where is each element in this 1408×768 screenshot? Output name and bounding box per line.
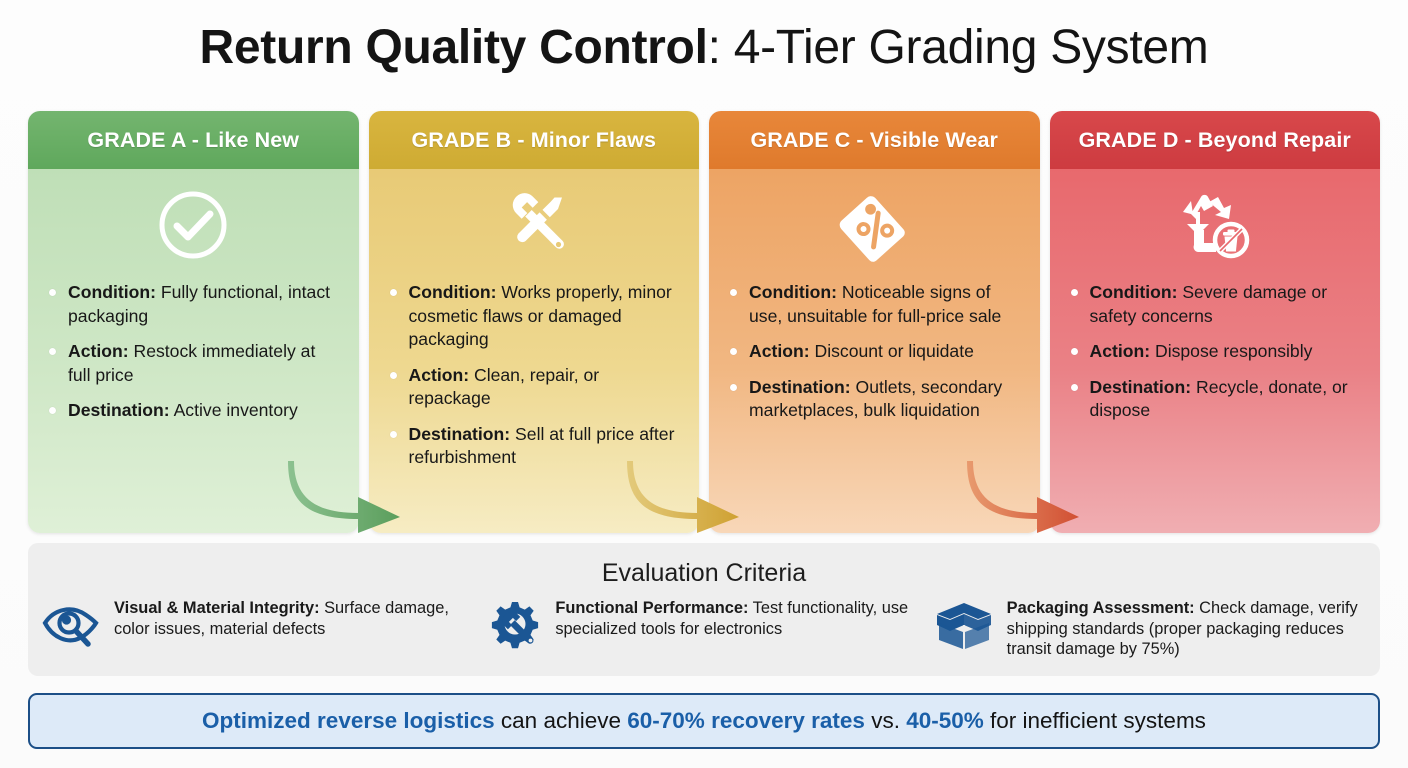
bullet-item: Action: Clean, repair, or repackage <box>387 364 684 411</box>
grade-d-bullets: Condition: Severe damage or safety conce… <box>1050 281 1381 423</box>
bullet-label: Action: <box>68 341 129 361</box>
banner-highlight-2: 60-70% recovery rates <box>627 708 865 733</box>
criteria-item-label: Functional Performance: <box>555 599 748 617</box>
bullet-dot-icon <box>730 384 737 391</box>
bullet-label: Destination: <box>409 424 511 444</box>
bullet-dot-icon <box>390 289 397 296</box>
open-box-icon <box>933 598 995 651</box>
criteria-item-text: Visual & Material Integrity: Surface dam… <box>114 598 475 639</box>
bullet-label: Action: <box>409 365 470 385</box>
banner-highlight-1: Optimized reverse logistics <box>202 708 495 733</box>
page-title: Return Quality Control: 4-Tier Grading S… <box>0 14 1408 82</box>
bullet-dot-icon <box>49 289 56 296</box>
bullet-text: Discount or liquidate <box>810 341 974 361</box>
grade-c-header: GRADE C - Visible Wear <box>709 111 1040 169</box>
page-title-bold: Return Quality Control <box>200 21 708 74</box>
bullet-label: Condition: <box>68 282 156 302</box>
criteria-title: Evaluation Criteria <box>28 543 1380 587</box>
bullet-item: Destination: Active inventory <box>46 399 343 423</box>
grade-b-body: Condition: Works properly, minor cosmeti… <box>369 169 700 533</box>
summary-banner-text: Optimized reverse logistics can achieve … <box>202 708 1206 734</box>
bullet-text: Dispose responsibly <box>1150 341 1312 361</box>
eye-magnifier-icon <box>42 598 102 649</box>
criteria-item-text: Functional Performance: Test functionali… <box>555 598 920 639</box>
bullet-label: Destination: <box>749 377 851 397</box>
bullet-item: Action: Dispose responsibly <box>1068 340 1365 364</box>
banner-plain-3: for inefficient systems <box>984 708 1206 733</box>
bullet-dot-icon <box>390 372 397 379</box>
criteria-items: Visual & Material Integrity: Surface dam… <box>28 587 1380 660</box>
grade-column-c[interactable]: GRADE C - Visible Wear <box>709 111 1040 533</box>
grade-a-body: Condition: Fully functional, intact pack… <box>28 169 359 533</box>
tools-wrench-screwdriver-icon <box>369 169 700 281</box>
evaluation-criteria-panel: Evaluation Criteria Visual & Material In… <box>28 543 1380 676</box>
bullet-text: Active inventory <box>170 400 298 420</box>
banner-plain-1: can achieve <box>495 708 628 733</box>
bullet-dot-icon <box>49 348 56 355</box>
bullet-item: Condition: Severe damage or safety conce… <box>1068 281 1365 328</box>
bullet-item: Action: Restock immediately at full pric… <box>46 340 343 387</box>
bullet-dot-icon <box>49 407 56 414</box>
gear-wrench-icon <box>487 598 543 653</box>
bullet-item: Condition: Noticeable signs of use, unsu… <box>727 281 1024 328</box>
bullet-item: Destination: Recycle, donate, or dispose <box>1068 376 1365 423</box>
bullet-dot-icon <box>730 289 737 296</box>
bullet-dot-icon <box>390 431 397 438</box>
grade-c-body: Condition: Noticeable signs of use, unsu… <box>709 169 1040 533</box>
grade-column-a[interactable]: GRADE A - Like New Condition: Fully func… <box>28 111 359 533</box>
grade-d-body: Condition: Severe damage or safety conce… <box>1050 169 1381 533</box>
bullet-dot-icon <box>1071 384 1078 391</box>
grade-column-b[interactable]: GRADE B - Minor Flaws <box>369 111 700 533</box>
bullet-dot-icon <box>1071 289 1078 296</box>
bullet-dot-icon <box>1071 348 1078 355</box>
bullet-label: Condition: <box>409 282 497 302</box>
grade-a-header: GRADE A - Like New <box>28 111 359 169</box>
bullet-label: Action: <box>1090 341 1151 361</box>
grade-d-header: GRADE D - Beyond Repair <box>1050 111 1381 169</box>
bullet-item: Destination: Sell at full price after re… <box>387 423 684 470</box>
criteria-item-label: Packaging Assessment: <box>1007 599 1195 617</box>
recycle-no-trash-icon <box>1050 169 1381 281</box>
criteria-item-packaging: Packaging Assessment: Check damage, veri… <box>933 598 1366 660</box>
bullet-label: Condition: <box>749 282 837 302</box>
summary-banner: Optimized reverse logistics can achieve … <box>28 693 1380 749</box>
bullet-item: Condition: Works properly, minor cosmeti… <box>387 281 684 352</box>
bullet-label: Destination: <box>68 400 170 420</box>
page-title-light: : 4-Tier Grading System <box>708 21 1209 74</box>
grade-b-bullets: Condition: Works properly, minor cosmeti… <box>369 281 700 470</box>
grade-b-header: GRADE B - Minor Flaws <box>369 111 700 169</box>
grade-column-d[interactable]: GRADE D - Beyond Repair <box>1050 111 1381 533</box>
criteria-item-functional: Functional Performance: Test functionali… <box>487 598 920 660</box>
bullet-label: Condition: <box>1090 282 1178 302</box>
banner-plain-2: vs. <box>865 708 906 733</box>
banner-highlight-3: 40-50% <box>906 708 984 733</box>
bullet-item: Destination: Outlets, secondary marketpl… <box>727 376 1024 423</box>
grade-a-bullets: Condition: Fully functional, intact pack… <box>28 281 359 423</box>
bullet-label: Destination: <box>1090 377 1192 397</box>
grade-columns: GRADE A - Like New Condition: Fully func… <box>28 111 1380 533</box>
check-circle-icon <box>28 169 359 281</box>
bullet-label: Action: <box>749 341 810 361</box>
infographic-page: Return Quality Control: 4-Tier Grading S… <box>0 0 1408 768</box>
bullet-dot-icon <box>730 348 737 355</box>
criteria-item-visual: Visual & Material Integrity: Surface dam… <box>42 598 475 660</box>
criteria-item-text: Packaging Assessment: Check damage, veri… <box>1007 598 1366 660</box>
discount-price-tag-icon <box>709 169 1040 281</box>
bullet-item: Action: Discount or liquidate <box>727 340 1024 364</box>
grade-c-bullets: Condition: Noticeable signs of use, unsu… <box>709 281 1040 423</box>
criteria-item-label: Visual & Material Integrity: <box>114 599 320 617</box>
bullet-item: Condition: Fully functional, intact pack… <box>46 281 343 328</box>
